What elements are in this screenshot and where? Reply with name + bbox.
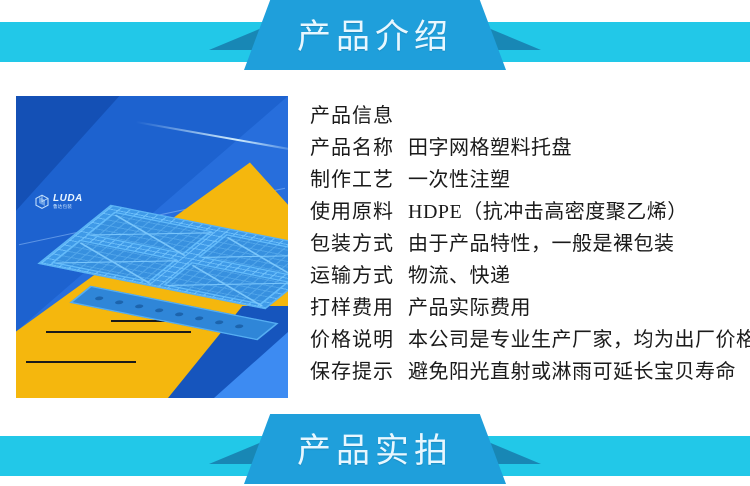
spec-value: 由于产品特性，一般是裸包装 [408,228,740,260]
pallet-hole [94,296,105,301]
product-detail-page: 产品介绍 [0,0,750,486]
spec-value: 避免阳光直射或淋雨可延长宝贝寿命 [408,356,740,388]
spec-row-price-note: 价格说明 本公司是专业生产厂家，均为出厂价格 [310,324,740,356]
brand-name: LUDA [53,194,83,204]
top-section-title: 产品介绍 [244,0,506,66]
cube-logo-icon [34,194,50,210]
spec-label: 制作工艺 [310,164,408,196]
product-photo: LUDA 鲁达包装 [16,96,288,398]
pallet-hole [214,320,225,325]
spec-label: 打样费用 [310,292,408,324]
spec-value: 一次性注塑 [408,164,740,196]
spec-label: 价格说明 [310,324,408,356]
spec-label: 运输方式 [310,260,408,292]
brand-subtitle: 鲁达包装 [53,205,83,210]
spec-label: 产品名称 [310,132,408,164]
spec-row-sample-fee: 打样费用 产品实际费用 [310,292,740,324]
top-section-banner: 产品介绍 [0,0,750,70]
photo-accent-line-3 [26,361,136,363]
pallet-hole [134,304,145,309]
product-spec-list: 产品信息 产品名称 田字网格塑料托盘 制作工艺 一次性注塑 使用原料 HDPE（… [310,100,740,388]
spec-value: 物流、快递 [408,260,740,292]
spec-row-packaging: 包装方式 由于产品特性，一般是裸包装 [310,228,740,260]
pallet-hole [154,308,165,313]
spec-value: 田字网格塑料托盘 [408,132,740,164]
spec-row-storage-tip: 保存提示 避免阳光直射或淋雨可延长宝贝寿命 [310,356,740,388]
spec-value: 产品实际费用 [408,292,740,324]
pallet-hole [234,324,245,329]
plastic-pallet-illustration [40,192,268,352]
bottom-section-title: 产品实拍 [244,414,506,480]
brand-watermark: LUDA 鲁达包装 [34,194,83,210]
spec-label: 保存提示 [310,356,408,388]
pallet-hole [194,316,205,321]
spec-label: 使用原料 [310,196,408,228]
spec-value: HDPE（抗冲击高密度聚乙烯） [408,196,740,228]
spec-heading: 产品信息 [310,100,408,132]
spec-label: 包装方式 [310,228,408,260]
spec-row-material: 使用原料 HDPE（抗冲击高密度聚乙烯） [310,196,740,228]
spec-value: 本公司是专业生产厂家，均为出厂价格 [408,324,750,356]
pallet-deck [37,205,288,310]
spec-heading-row: 产品信息 [310,100,740,132]
spec-row-product-name: 产品名称 田字网格塑料托盘 [310,132,740,164]
pallet-hole [114,300,125,305]
brand-text: LUDA 鲁达包装 [53,194,83,210]
pallet-hole [174,312,185,317]
spec-row-process: 制作工艺 一次性注塑 [310,164,740,196]
bottom-section-banner: 产品实拍 [0,414,750,484]
spec-row-shipping: 运输方式 物流、快递 [310,260,740,292]
